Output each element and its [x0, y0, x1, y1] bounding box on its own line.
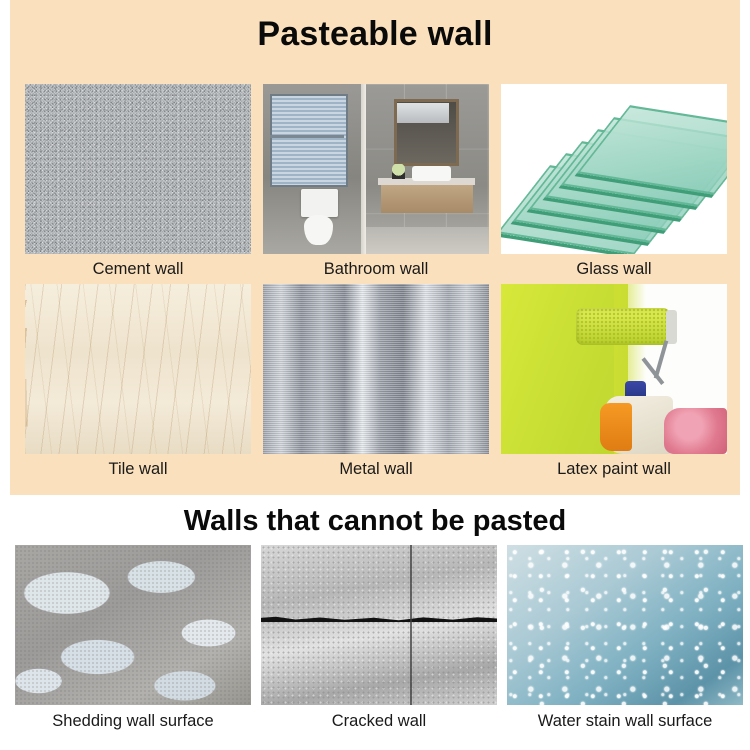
cracked-wall-photo — [261, 545, 497, 705]
paint-roller-sleeve — [576, 308, 671, 345]
infographic-page: Pasteable wall Cement wall — [0, 0, 750, 750]
item-shedding-wall: Shedding wall surface — [15, 545, 251, 737]
metal-wall-photo — [263, 284, 489, 454]
marble-texture — [25, 284, 251, 454]
glass-backdrop — [501, 84, 727, 254]
toilet-bowl — [304, 215, 333, 246]
item-tile-wall: Tile wall — [25, 284, 251, 484]
caption-metal-wall: Metal wall — [263, 454, 489, 484]
vessel-sink — [412, 166, 450, 181]
bathroom-window-frame — [270, 135, 345, 138]
caption-tile-wall: Tile wall — [25, 454, 251, 484]
peeling-plaster-texture — [15, 545, 251, 705]
paint-scene — [501, 284, 727, 454]
bathroom-wall-photo — [263, 84, 489, 254]
pasteable-section-title: Pasteable wall — [10, 14, 740, 54]
concrete-texture — [261, 545, 497, 705]
water-droplets-texture — [507, 545, 743, 705]
not-pasteable-row: Shedding wall surface Cracked wall Water… — [15, 545, 743, 737]
caption-water-stain-wall-surface: Water stain wall surface — [507, 705, 743, 737]
water-stain-wall-photo — [507, 545, 743, 705]
bathroom-partition — [361, 84, 366, 254]
item-latex-paint-wall: Latex paint wall — [501, 284, 727, 484]
pasteable-row-2: Tile wall Metal wall — [25, 284, 727, 484]
caption-latex-paint-wall: Latex paint wall — [501, 454, 727, 484]
not-pasteable-section-title: Walls that cannot be pasted — [0, 503, 750, 539]
item-cement-wall: Cement wall — [25, 84, 251, 284]
item-glass-wall: Glass wall — [501, 84, 727, 284]
decor-plant — [392, 164, 406, 179]
glove-orange-grip — [600, 403, 632, 451]
cement-texture — [25, 84, 251, 254]
bathroom-floor — [362, 227, 489, 254]
caption-cracked-wall: Cracked wall — [261, 705, 497, 737]
toilet-tank — [301, 189, 337, 216]
brushed-metal-texture — [263, 284, 489, 454]
caption-cement-wall: Cement wall — [25, 254, 251, 284]
bathroom-window-blinds — [270, 94, 349, 186]
cement-wall-photo — [25, 84, 251, 254]
tile-wall-photo — [25, 284, 251, 454]
item-water-stain-wall: Water stain wall surface — [507, 545, 743, 737]
pasteable-row-1: Cement wall — [25, 84, 727, 284]
caption-bathroom-wall: Bathroom wall — [263, 254, 489, 284]
item-bathroom-wall: Bathroom wall — [263, 84, 489, 284]
roller-end-cap — [666, 310, 677, 344]
glass-wall-photo — [501, 84, 727, 254]
caption-shedding-wall-surface: Shedding wall surface — [15, 705, 251, 737]
mirror-highlight — [397, 103, 449, 123]
bathroom-vanity-cabinet — [381, 183, 474, 214]
not-pasteable-grid: Shedding wall surface Cracked wall Water… — [15, 545, 743, 737]
pasteable-wall-section: Pasteable wall Cement wall — [10, 0, 740, 495]
pasteable-grid: Cement wall — [25, 84, 727, 484]
caption-glass-wall: Glass wall — [501, 254, 727, 284]
item-cracked-wall: Cracked wall — [261, 545, 497, 737]
bathroom-scene — [263, 84, 489, 254]
vertical-crack — [410, 545, 412, 705]
item-metal-wall: Metal wall — [263, 284, 489, 484]
not-pasteable-section: Walls that cannot be pasted Shedding wal… — [0, 495, 750, 750]
pink-sleeve — [664, 408, 727, 454]
latex-paint-wall-photo — [501, 284, 727, 454]
shedding-wall-photo — [15, 545, 251, 705]
